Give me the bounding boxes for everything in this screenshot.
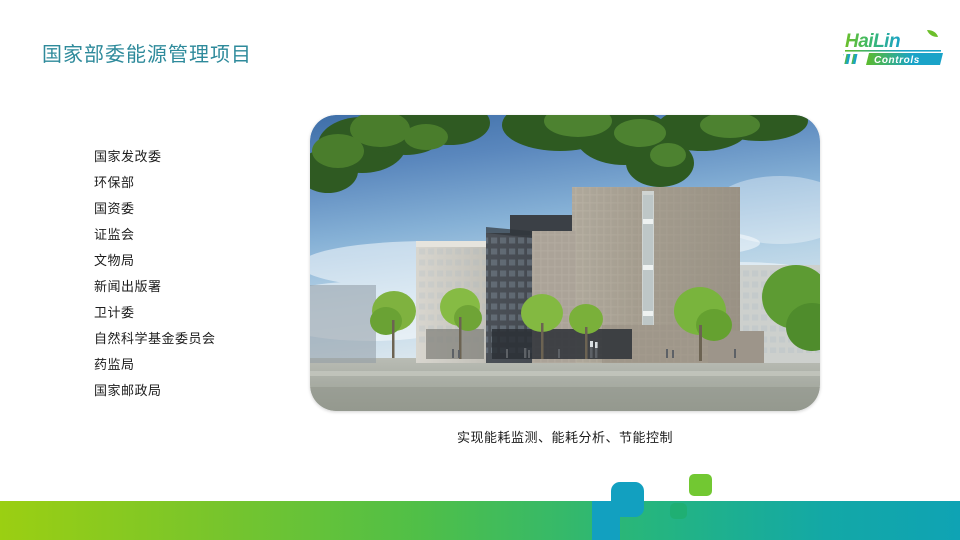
decoration-blue-shape xyxy=(592,482,672,540)
list-item: 卫计委 xyxy=(94,300,294,326)
list-item: 文物局 xyxy=(94,248,294,274)
list-item: 国家发改委 xyxy=(94,144,294,170)
hailin-controls-logo: HaiLin Controls xyxy=(843,28,947,68)
list-item: 新闻出版署 xyxy=(94,274,294,300)
building-photo-image xyxy=(310,115,820,411)
photo-caption: 实现能耗监测、能耗分析、节能控制 xyxy=(310,427,820,446)
decoration-teal-square xyxy=(670,503,687,519)
list-item: 自然科学基金委员会 xyxy=(94,326,294,352)
list-item: 证监会 xyxy=(94,222,294,248)
slide-root: 国家部委能源管理项目 HaiLin xyxy=(0,0,960,540)
svg-text:HaiLin: HaiLin xyxy=(845,31,900,52)
building-photo xyxy=(310,115,820,411)
decoration-green-square xyxy=(689,474,712,496)
list-item: 环保部 xyxy=(94,170,294,196)
list-item: 国家邮政局 xyxy=(94,378,294,404)
agency-list: 国家发改委 环保部 国资委 证监会 文物局 新闻出版署 卫计委 自然科学基金委员… xyxy=(94,144,294,404)
list-item: 国资委 xyxy=(94,196,294,222)
svg-text:Controls: Controls xyxy=(874,55,920,66)
list-item: 药监局 xyxy=(94,352,294,378)
footer-gradient-bar xyxy=(0,501,960,540)
page-title: 国家部委能源管理项目 xyxy=(42,38,252,67)
